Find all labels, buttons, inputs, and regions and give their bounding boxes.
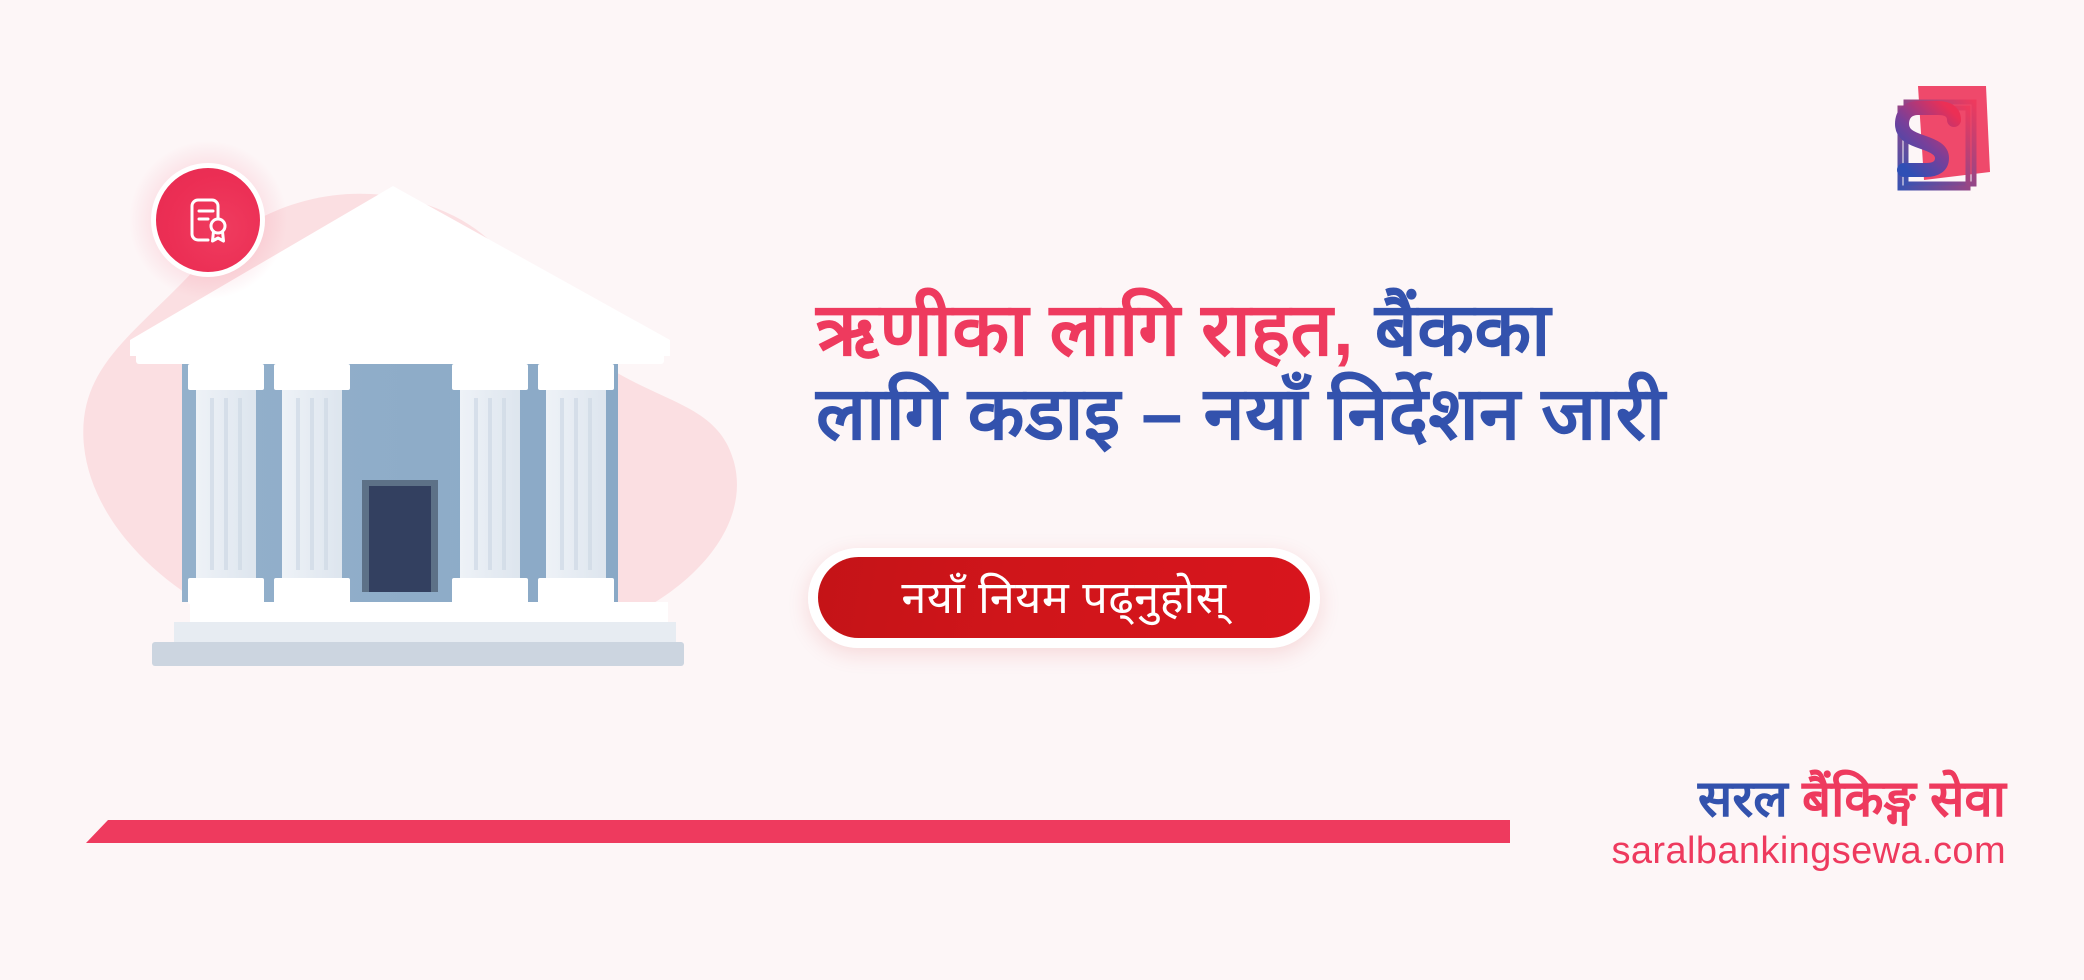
- footer-brand: सरल बैंकिङ्ग सेवा saralbankingsewa.com: [1486, 772, 2006, 873]
- certificate-badge: [151, 163, 265, 277]
- bottom-accent-bar: [86, 820, 1510, 843]
- headline-line-1-blue: बैंकका: [1354, 288, 1551, 371]
- brand-title-red: बैंकिङ्ग सेवा: [1802, 770, 2006, 827]
- promotional-banner: ऋणीका लागि राहत, बैंकका लागि कडाइ – नयाँ…: [0, 0, 2084, 980]
- certificate-document-icon: [180, 192, 236, 248]
- headline-block: ऋणीका लागि राहत, बैंकका लागि कडाइ – नयाँ…: [816, 288, 1916, 457]
- brand-logo: [1878, 72, 2010, 196]
- headline-line-2: लागि कडाइ – नयाँ निर्देशन जारी: [816, 372, 1916, 456]
- read-new-rules-button[interactable]: नयाँ नियम पढ्नुहोस्: [818, 557, 1310, 638]
- brand-title-blue: सरल: [1698, 770, 1788, 827]
- brand-title: सरल बैंकिङ्ग सेवा: [1486, 772, 2006, 826]
- headline-line-1-red: ऋणीका लागि राहत,: [816, 288, 1354, 371]
- headline-line-1: ऋणीका लागि राहत, बैंकका: [816, 288, 1916, 372]
- brand-website-url[interactable]: saralbankingsewa.com: [1486, 830, 2006, 873]
